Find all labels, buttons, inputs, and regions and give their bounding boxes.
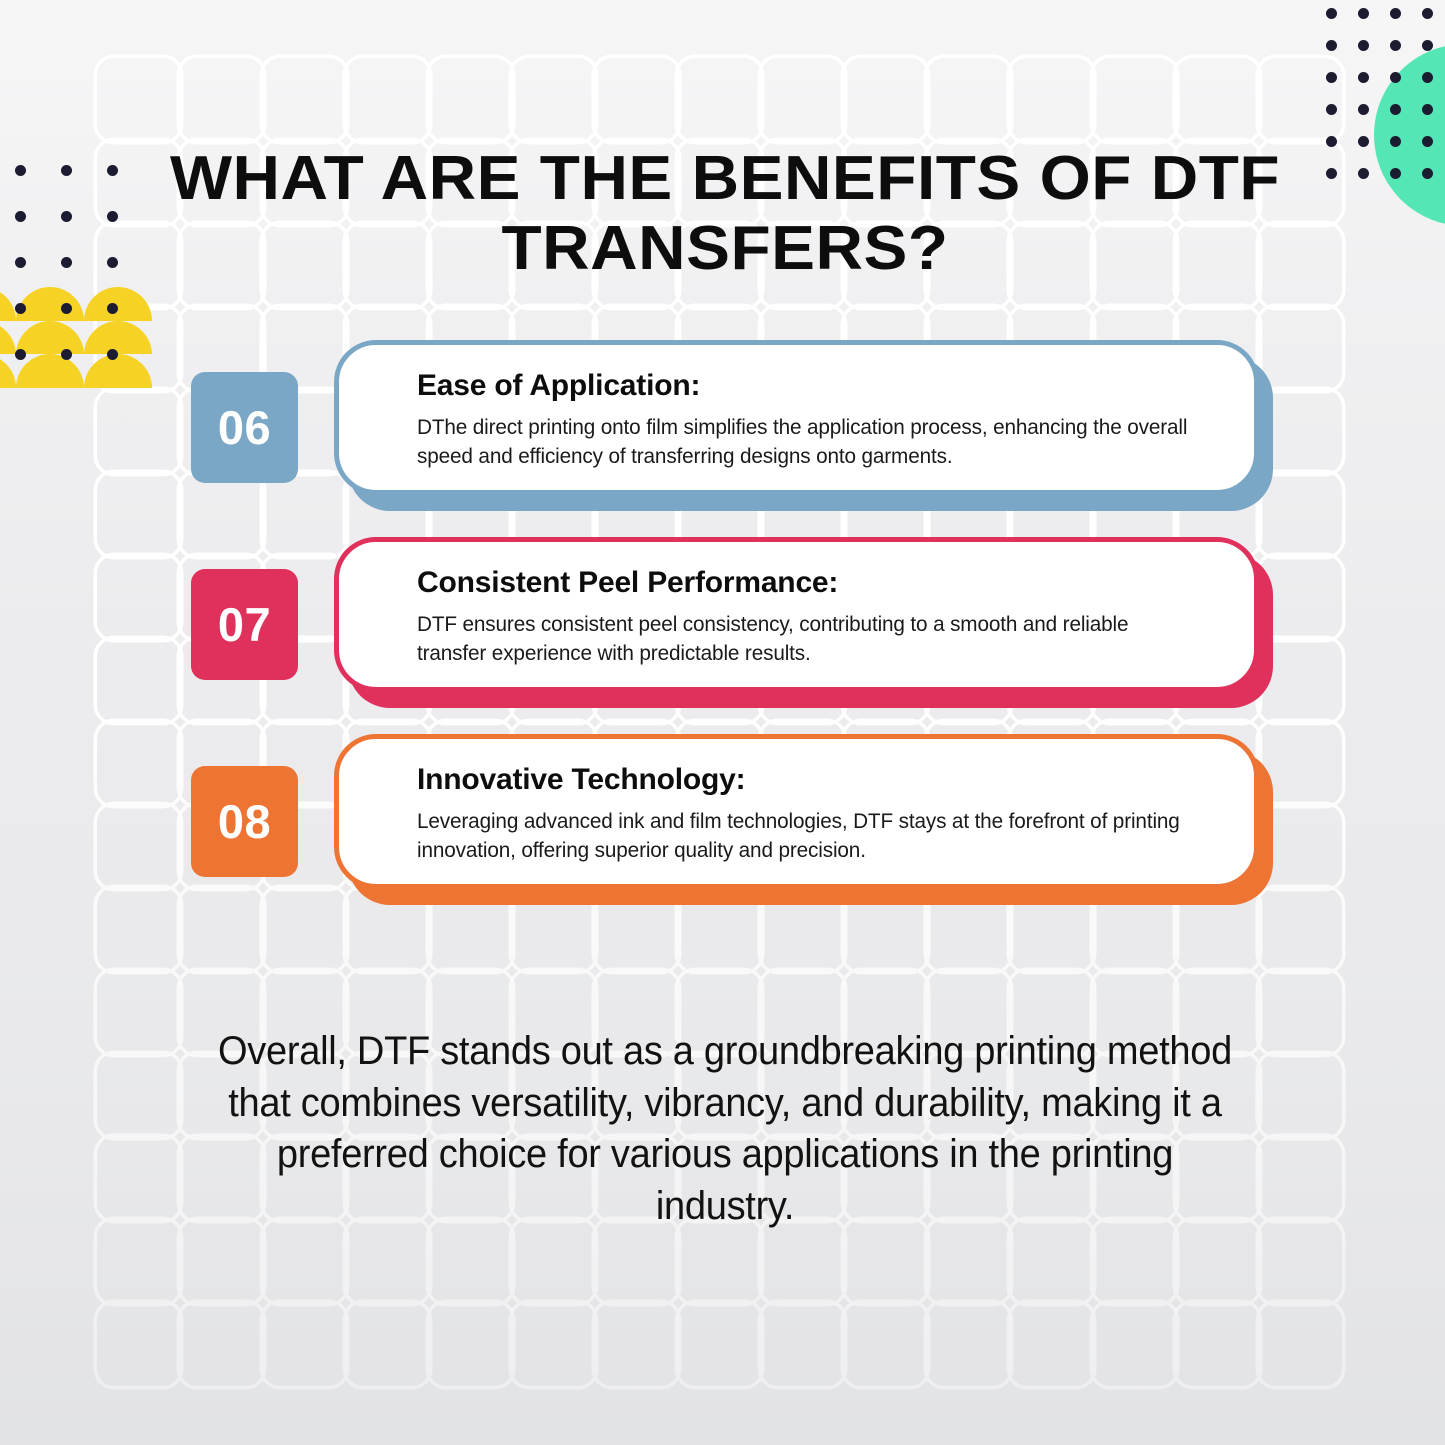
grid-cell	[678, 1220, 761, 1303]
grid-cell	[927, 58, 1010, 141]
decorative-dot	[1422, 8, 1433, 19]
grid-cell	[1259, 307, 1342, 390]
benefit-card-shell: Consistent Peel Performance: DTF ensures…	[334, 537, 1259, 692]
grid-cell	[97, 1303, 180, 1386]
decorative-dot	[107, 303, 118, 314]
grid-cell	[97, 1054, 180, 1137]
grid-cell	[844, 1220, 927, 1303]
decorative-dot	[61, 211, 72, 222]
benefit-card: Consistent Peel Performance: DTF ensures…	[334, 537, 1259, 692]
grid-cell	[97, 805, 180, 888]
infographic-poster: WHAT ARE THE BENEFITS OF DTF TRANSFERS? …	[0, 0, 1445, 1445]
decorative-dot	[1390, 136, 1401, 147]
grid-cell	[263, 1303, 346, 1386]
benefit-card-body: DTF ensures consistent peel consistency,…	[417, 610, 1196, 667]
grid-cell	[844, 1303, 927, 1386]
page-title: WHAT ARE THE BENEFITS OF DTF TRANSFERS?	[163, 144, 1287, 284]
grid-cell	[1259, 1054, 1342, 1137]
decorative-dot	[15, 257, 26, 268]
dot-grid-left-decoration	[15, 165, 153, 395]
grid-cell	[1259, 473, 1342, 556]
grid-cell	[595, 1303, 678, 1386]
grid-cell	[346, 1303, 429, 1386]
grid-cell	[97, 639, 180, 722]
grid-cell	[97, 556, 180, 639]
grid-cell	[512, 58, 595, 141]
decorative-dot	[1326, 104, 1337, 115]
decorative-dot	[1326, 40, 1337, 51]
grid-cell	[180, 888, 263, 971]
grid-cell	[1259, 971, 1342, 1054]
benefit-row: 06 Ease of Application: DThe direct prin…	[191, 340, 1259, 495]
grid-cell	[678, 1303, 761, 1386]
grid-cell	[97, 1220, 180, 1303]
grid-cell	[97, 888, 180, 971]
decorative-dot	[1422, 72, 1433, 83]
decorative-dot	[107, 257, 118, 268]
grid-cell	[1010, 58, 1093, 141]
decorative-dot	[61, 165, 72, 176]
decorative-dot	[15, 303, 26, 314]
grid-cell	[595, 58, 678, 141]
grid-cell	[761, 58, 844, 141]
grid-cell	[263, 58, 346, 141]
grid-cell	[927, 1220, 1010, 1303]
decorative-dot	[15, 349, 26, 360]
decorative-dot	[61, 349, 72, 360]
decorative-dot	[1422, 40, 1433, 51]
grid-cell	[180, 58, 263, 141]
benefit-card: Innovative Technology: Leveraging advanc…	[334, 734, 1259, 889]
decorative-dot	[1390, 168, 1401, 179]
grid-cell	[512, 1220, 595, 1303]
benefit-card-body: DThe direct printing onto film simplifie…	[417, 413, 1196, 470]
grid-cell	[1259, 1137, 1342, 1220]
grid-cell	[346, 58, 429, 141]
decorative-dot	[1358, 72, 1369, 83]
decorative-dot	[1422, 136, 1433, 147]
benefit-number-badge: 06	[191, 372, 298, 483]
semicircle-shape	[0, 321, 16, 355]
decorative-dot	[1358, 136, 1369, 147]
benefit-card-shell: Innovative Technology: Leveraging advanc…	[334, 734, 1259, 889]
grid-cell	[1176, 58, 1259, 141]
decorative-dot	[1390, 104, 1401, 115]
grid-cell	[595, 1220, 678, 1303]
decorative-dot	[1326, 168, 1337, 179]
grid-cell	[97, 390, 180, 473]
closing-paragraph: Overall, DTF stands out as a groundbreak…	[207, 1026, 1243, 1232]
grid-cell	[761, 1220, 844, 1303]
decorative-dot	[1422, 168, 1433, 179]
grid-cell	[1093, 1220, 1176, 1303]
decorative-dot	[1326, 8, 1337, 19]
semicircle-shape	[0, 354, 16, 388]
grid-cell	[512, 1303, 595, 1386]
benefit-card-title: Consistent Peel Performance:	[417, 565, 1224, 601]
benefit-row: 07 Consistent Peel Performance: DTF ensu…	[191, 537, 1259, 692]
grid-cell	[429, 1220, 512, 1303]
grid-cell	[97, 58, 180, 141]
benefit-card-body: Leveraging advanced ink and film technol…	[417, 807, 1196, 864]
grid-cell	[1259, 1303, 1342, 1386]
decorative-dot	[61, 303, 72, 314]
grid-cell	[263, 1220, 346, 1303]
grid-cell	[97, 1137, 180, 1220]
grid-cell	[1010, 1220, 1093, 1303]
grid-cell	[429, 58, 512, 141]
grid-cell	[1259, 1220, 1342, 1303]
benefit-card: Ease of Application: DThe direct printin…	[334, 340, 1259, 495]
semicircle-shape	[0, 287, 16, 321]
grid-cell	[927, 1303, 1010, 1386]
grid-cell	[678, 58, 761, 141]
decorative-dot	[107, 165, 118, 176]
benefit-card-title: Innovative Technology:	[417, 762, 1224, 798]
grid-cell	[1010, 1303, 1093, 1386]
grid-cell	[1176, 1220, 1259, 1303]
grid-cell	[429, 1303, 512, 1386]
grid-cell	[263, 888, 346, 971]
decorative-dot	[1326, 72, 1337, 83]
grid-cell	[1093, 1303, 1176, 1386]
grid-cell	[97, 473, 180, 556]
benefit-card-title: Ease of Application:	[417, 368, 1224, 404]
benefit-card-shell: Ease of Application: DThe direct printin…	[334, 340, 1259, 495]
decorative-dot	[61, 257, 72, 268]
decorative-dot	[1390, 72, 1401, 83]
decorative-dot	[1422, 104, 1433, 115]
grid-cell	[97, 722, 180, 805]
decorative-dot	[1358, 104, 1369, 115]
benefit-number-badge: 08	[191, 766, 298, 877]
dot-grid-right-decoration	[1326, 8, 1445, 200]
grid-cell	[180, 1220, 263, 1303]
grid-cell	[346, 1220, 429, 1303]
decorative-dot	[107, 211, 118, 222]
grid-cell	[180, 1303, 263, 1386]
benefit-row: 08 Innovative Technology: Leveraging adv…	[191, 734, 1259, 889]
decorative-dot	[1358, 168, 1369, 179]
benefit-number-badge: 07	[191, 569, 298, 680]
decorative-dot	[1390, 40, 1401, 51]
decorative-dot	[15, 165, 26, 176]
grid-cell	[761, 1303, 844, 1386]
grid-cell	[97, 971, 180, 1054]
decorative-dot	[15, 211, 26, 222]
decorative-dot	[107, 349, 118, 360]
grid-cell	[844, 58, 927, 141]
decorative-dot	[1358, 40, 1369, 51]
decorative-dot	[1326, 136, 1337, 147]
decorative-dot	[1358, 8, 1369, 19]
grid-cell	[1093, 58, 1176, 141]
grid-cell	[1259, 888, 1342, 971]
decorative-dot	[1390, 8, 1401, 19]
grid-cell	[1176, 1303, 1259, 1386]
